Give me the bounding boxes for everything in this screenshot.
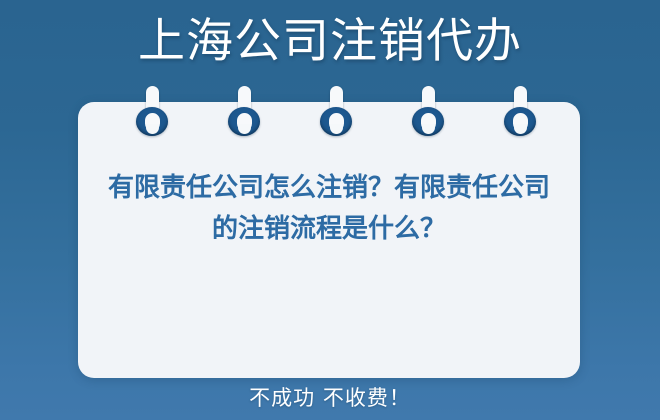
poster-title-bar: 上海公司注销代办 xyxy=(0,12,660,72)
binding-ring-4 xyxy=(411,84,445,140)
footer-slogan: 不成功 不收费！ xyxy=(249,384,411,412)
binding-ring-1 xyxy=(135,84,169,140)
headline-text: 有限责任公司怎么注销？有限责任公司的注销流程是什么？ xyxy=(102,168,556,250)
binding-ring-5 xyxy=(503,84,537,140)
card-content: 有限责任公司怎么注销？有限责任公司的注销流程是什么？ xyxy=(102,168,556,250)
binding-ring-3 xyxy=(319,84,353,140)
notepad-card: 有限责任公司怎么注销？有限责任公司的注销流程是什么？ xyxy=(78,102,580,378)
poster-footer: 不成功 不收费！ xyxy=(0,384,660,412)
binding-ring-2 xyxy=(227,84,261,140)
page-title: 上海公司注销代办 xyxy=(138,12,522,72)
poster-canvas: 上海公司注销代办 有限责任公司怎么注销？有限责任公司的注销流程是什么？ xyxy=(0,0,660,420)
